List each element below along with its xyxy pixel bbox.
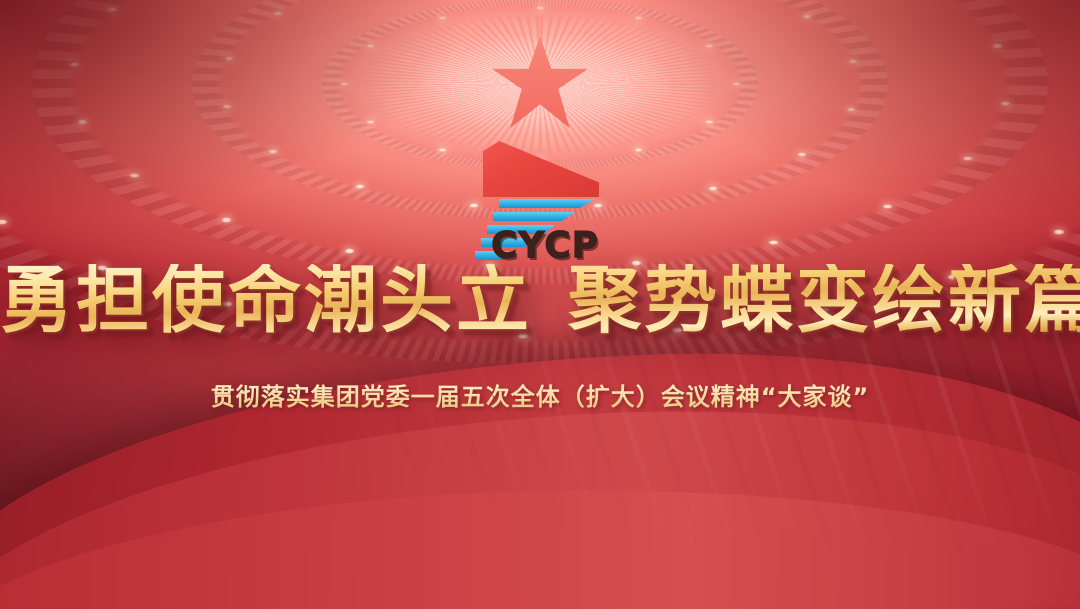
logo-bar-2 [493, 212, 575, 221]
logo-bar-1 [499, 199, 595, 208]
page-title: 勇担使命潮头立聚势蝶变绘新篇 [0, 264, 1080, 337]
cycp-logo: CYCP [447, 141, 637, 266]
banner-canvas: CYCP 勇担使命潮头立聚势蝶变绘新篇 贯彻落实集团党委一届五次全体（扩大）会议… [0, 0, 1080, 609]
logo-red-triangle-icon [483, 141, 599, 197]
page-subtitle: 贯彻落实集团党委一届五次全体（扩大）会议精神“大家谈” [0, 377, 1080, 412]
headline-part-2: 聚势蝶变绘新篇 [568, 257, 1080, 343]
headline-part-1: 勇担使命潮头立 [0, 257, 532, 343]
